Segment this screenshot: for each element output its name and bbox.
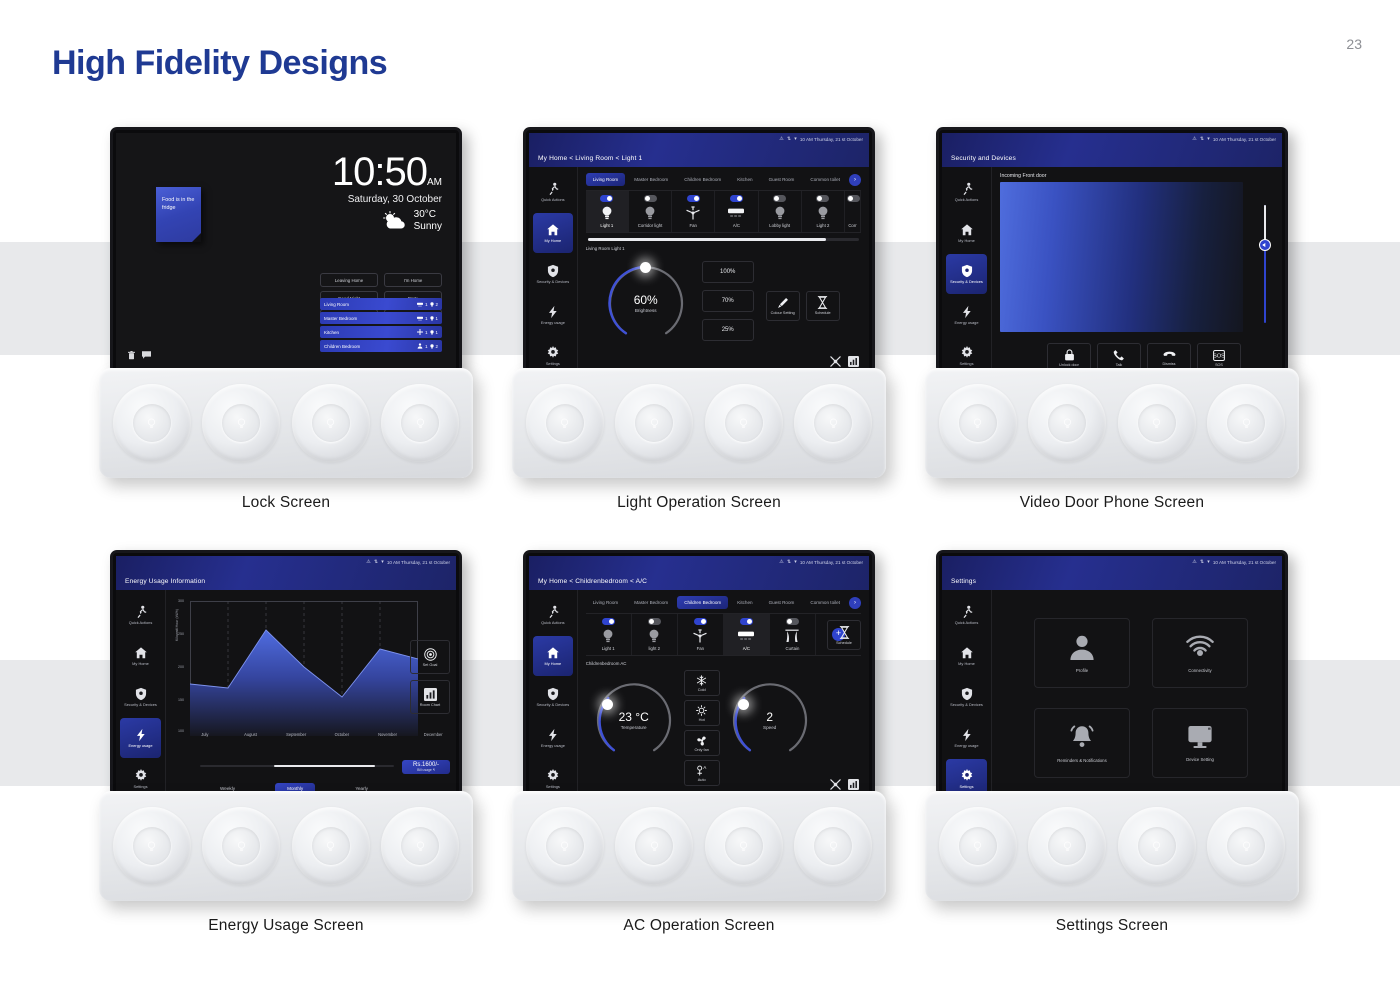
device-light-operation-screen: ⚠ ⇅ ▾ 10 AM Thursday, 21 st October My H… bbox=[512, 127, 886, 512]
bulb-icon bbox=[828, 841, 839, 852]
status-datetime: 10 AM Thursday, 21 st October bbox=[1213, 137, 1276, 142]
sidebar: Quick Actions My Home Security & Devices bbox=[942, 167, 992, 368]
shield-icon bbox=[960, 264, 974, 278]
colour-setting-button[interactable]: Colour Setting bbox=[766, 291, 800, 321]
chart-plot bbox=[190, 601, 418, 736]
device-screen: ⚠ ⇅ ▾ 10 AM Thursday, 21 st October My H… bbox=[529, 133, 869, 368]
room-tab-guest-room[interactable]: Guest Room bbox=[762, 596, 802, 609]
chart-y-tick: 200 bbox=[178, 665, 184, 669]
physical-button[interactable] bbox=[113, 807, 191, 885]
physical-button-inner bbox=[222, 827, 260, 865]
device-toggle[interactable] bbox=[847, 195, 860, 202]
bulb-icon bbox=[146, 841, 157, 852]
physical-button[interactable] bbox=[526, 807, 604, 885]
dial-value: 2 bbox=[766, 710, 773, 724]
sidebar-item-label: Settings bbox=[959, 362, 973, 366]
bill-badge[interactable]: Rs.1600/- Bill usage ₹ bbox=[402, 760, 450, 774]
physical-button-inner bbox=[312, 404, 350, 442]
chart-y-tick: 250 bbox=[178, 632, 184, 636]
sticky-note[interactable]: Food is in the fridge bbox=[156, 187, 201, 242]
sidebar-item-label: Energy usage bbox=[541, 321, 565, 325]
device-tile-curtain[interactable]: Curtain bbox=[770, 614, 816, 655]
bulb-icon bbox=[634, 628, 675, 644]
sidebar-item-energy-usage[interactable]: Energy usage bbox=[533, 718, 573, 758]
device-tiles: Light 1 Corridor light bbox=[586, 190, 861, 233]
sidebar-item-my-home[interactable]: My Home bbox=[533, 636, 573, 676]
preset-100[interactable]: 100% bbox=[702, 261, 754, 283]
physical-button[interactable] bbox=[1207, 807, 1285, 885]
ac-icon bbox=[417, 302, 423, 307]
tutorial-button[interactable]: Tutorial bbox=[829, 356, 841, 368]
screen-caption: Settings Screen bbox=[925, 917, 1299, 935]
bulb-icon bbox=[649, 841, 660, 852]
schedule-button[interactable]: Schedule bbox=[827, 620, 861, 650]
sidebar-item-quick-actions[interactable]: Quick Actions bbox=[946, 172, 987, 212]
sidebar-item-energy-usage[interactable]: Energy usage bbox=[533, 295, 573, 335]
dial-value-group: 60% Brightness bbox=[604, 261, 688, 345]
curtain-icon bbox=[772, 628, 813, 644]
bar-chart-icon bbox=[424, 688, 437, 701]
breadcrumb: Settings bbox=[951, 578, 976, 585]
device-tile-light-2[interactable]: light 2 bbox=[632, 614, 678, 655]
device-tile-label: Light 1 bbox=[588, 646, 629, 651]
scene-im-home[interactable]: I'm Home bbox=[384, 273, 442, 287]
bulb-icon bbox=[738, 418, 749, 429]
sidebar-item-security-devices[interactable]: Security & Devices bbox=[946, 677, 987, 717]
bulb-icon bbox=[1241, 841, 1252, 852]
ac-operation-ui: ⚠ ⇅ ▾ 10 AM Thursday, 21 st October My H… bbox=[529, 556, 869, 791]
tutorial-icon bbox=[830, 779, 841, 790]
device-toggle[interactable] bbox=[816, 195, 829, 202]
shield-icon bbox=[960, 687, 974, 701]
period-yearly[interactable]: Yearly bbox=[343, 783, 380, 791]
mode-auto-button[interactable]: A Auto bbox=[684, 760, 720, 786]
bulb-icon bbox=[1151, 418, 1162, 429]
talk-button[interactable]: Talk bbox=[1097, 343, 1141, 368]
status-datetime: 10 AM Thursday, 21 st October bbox=[387, 560, 450, 565]
physical-button[interactable] bbox=[705, 807, 783, 885]
chevron-right-icon[interactable]: › bbox=[849, 597, 861, 609]
physical-button[interactable] bbox=[113, 384, 191, 462]
bolt-icon bbox=[960, 728, 974, 742]
physical-button[interactable] bbox=[381, 807, 459, 885]
room-tab-kitchen[interactable]: Kitchen bbox=[730, 596, 759, 609]
bulb-icon bbox=[1062, 418, 1073, 429]
device-tile-light-2[interactable]: Light 2 bbox=[802, 191, 845, 232]
bluetooth-icon: ⇅ bbox=[787, 559, 791, 565]
brush-icon bbox=[777, 297, 789, 309]
physical-button[interactable] bbox=[381, 384, 459, 462]
device-tile-label: light 2 bbox=[634, 646, 675, 651]
device-tile-fan[interactable]: Fan bbox=[678, 614, 724, 655]
physical-button-inner bbox=[1048, 827, 1086, 865]
physical-button-inner bbox=[222, 404, 260, 442]
physical-button[interactable] bbox=[202, 807, 280, 885]
sidebar-item-quick-actions[interactable]: Quick Actions bbox=[120, 595, 161, 635]
fan-icon bbox=[417, 329, 423, 335]
dismiss-button[interactable]: Dismiss bbox=[1147, 343, 1191, 368]
device-toggle[interactable] bbox=[694, 618, 707, 625]
call-actions: Unlock door Talk Dismiss bbox=[1047, 343, 1241, 368]
bulb-icon bbox=[631, 205, 669, 221]
bulb-icon bbox=[972, 841, 983, 852]
speed-dial[interactable]: 2 Speed bbox=[728, 678, 812, 762]
page-number: 23 bbox=[1346, 36, 1362, 52]
sidebar-item-energy-usage[interactable]: Energy usage bbox=[120, 718, 161, 758]
sidebar-item-quick-actions[interactable]: Quick Actions bbox=[533, 172, 573, 212]
bluetooth-icon: ⇅ bbox=[374, 559, 378, 565]
physical-button[interactable] bbox=[1028, 384, 1106, 462]
sidebar-item-label: Settings bbox=[959, 785, 973, 789]
physical-button-inner bbox=[1227, 827, 1265, 865]
mode-cold-button[interactable]: Cold bbox=[684, 670, 720, 696]
status-indicators: ⚠ ⇅ ▾ 10 AM Thursday, 21 st October bbox=[779, 136, 863, 142]
sidebar-item-label: Settings bbox=[133, 785, 147, 789]
corner-tools: Tutorial Statistics bbox=[829, 356, 861, 368]
gear-icon bbox=[134, 769, 148, 783]
device-settings-screen: ⚠ ⇅ ▾ 10 AM Thursday, 21 st October Sett… bbox=[925, 550, 1299, 935]
sun-cloud-icon bbox=[382, 211, 408, 231]
status-datetime: 10 AM Thursday, 21 st October bbox=[800, 560, 863, 565]
scene-leaving-home[interactable]: Leaving Home bbox=[320, 273, 378, 287]
room-row[interactable]: Children Bedroom 1 2 bbox=[320, 340, 442, 352]
room-tab-living-room[interactable]: Living Room bbox=[586, 596, 626, 609]
device-tile-light-1[interactable]: Light 1 bbox=[586, 614, 632, 655]
running-person-icon bbox=[960, 182, 974, 196]
sidebar-item-quick-actions[interactable]: Quick Actions bbox=[946, 595, 987, 635]
device-toggle[interactable] bbox=[740, 618, 753, 625]
hourglass-icon bbox=[817, 296, 828, 309]
video-door-phone-ui: ⚠ ⇅ ▾ 10 AM Thursday, 21 st October Secu… bbox=[942, 133, 1282, 368]
lock-bottom-icons bbox=[128, 351, 151, 360]
device-screen: ⚠ ⇅ ▾ 10 AM Thursday, 21 st October Ener… bbox=[116, 556, 456, 791]
device-screen: ⚠ ⇅ ▾ 10 AM Thursday, 21 st October Secu… bbox=[942, 133, 1282, 368]
breadcrumb: My Home < Living Room < Light 1 bbox=[538, 155, 642, 162]
camera-feed[interactable] bbox=[1000, 182, 1243, 332]
physical-button[interactable] bbox=[705, 384, 783, 462]
wifi-icon: ▾ bbox=[1207, 136, 1210, 142]
physical-button[interactable] bbox=[1118, 384, 1196, 462]
sidebar-item-label: My Home bbox=[545, 662, 562, 666]
hourglass-icon bbox=[839, 626, 850, 639]
settings-card-profile[interactable]: Profile bbox=[1034, 618, 1130, 688]
set-goal-button[interactable]: Set Goal bbox=[410, 640, 450, 674]
device-toggle[interactable] bbox=[773, 195, 786, 202]
sidebar-item-label: Settings bbox=[546, 785, 560, 789]
chart-y-tick: 300 bbox=[178, 599, 184, 603]
dial-label: Speed bbox=[763, 725, 776, 730]
device-tile-lobby-light[interactable]: Lobby light bbox=[759, 191, 802, 232]
device-tile-label: Curtain bbox=[772, 646, 813, 651]
gear-icon bbox=[960, 346, 974, 360]
monitor-icon bbox=[1186, 724, 1214, 750]
device-base bbox=[99, 368, 473, 478]
status-datetime: 10 AM Thursday, 21 st October bbox=[1213, 560, 1276, 565]
physical-button[interactable] bbox=[615, 384, 693, 462]
sidebar-item-settings[interactable]: Settings bbox=[533, 336, 573, 368]
detail-label: Living Room Light 1 bbox=[586, 246, 861, 251]
sidebar-item-label: My Home bbox=[958, 662, 975, 666]
physical-button[interactable] bbox=[526, 384, 604, 462]
device-toggle[interactable] bbox=[648, 618, 661, 625]
device-video-door-phone-screen: ⚠ ⇅ ▾ 10 AM Thursday, 21 st October Secu… bbox=[925, 127, 1299, 512]
gear-icon bbox=[546, 346, 560, 360]
sidebar-item-energy-usage[interactable]: Energy usage bbox=[946, 295, 987, 335]
sidebar-item-security-devices[interactable]: Security & Devices bbox=[120, 677, 161, 717]
chart-x-tick: July bbox=[182, 732, 228, 737]
device-tiles: Light 1 light 2 Fan bbox=[586, 613, 861, 656]
preset-70[interactable]: 70% bbox=[702, 290, 754, 312]
status-indicators: ⚠ ⇅ ▾ 10 AM Thursday, 21 st October bbox=[1192, 559, 1276, 565]
home-icon bbox=[960, 646, 974, 660]
device-toggle[interactable] bbox=[644, 195, 657, 202]
period-monthly[interactable]: Monthly bbox=[275, 783, 315, 791]
sidebar-item-security-devices[interactable]: Security & Devices bbox=[946, 254, 987, 294]
statistics-icon bbox=[848, 779, 859, 790]
tiles-scrollbar[interactable] bbox=[588, 238, 859, 241]
bulb-icon bbox=[1241, 418, 1252, 429]
statistics-button[interactable]: Statistics bbox=[847, 356, 861, 368]
device-tile-light-1[interactable]: Light 1 bbox=[586, 191, 629, 232]
bulb-icon bbox=[236, 841, 247, 852]
sidebar-item-label: Energy usage bbox=[128, 744, 152, 748]
schedule-button[interactable]: Schedule bbox=[806, 291, 840, 321]
phone-icon bbox=[1113, 349, 1125, 361]
device-toggle[interactable] bbox=[687, 195, 700, 202]
bolt-icon bbox=[546, 305, 560, 319]
bulb-icon bbox=[588, 628, 629, 644]
bolt-icon bbox=[960, 305, 974, 319]
running-person-icon bbox=[134, 605, 148, 619]
dial-value: 23 °C bbox=[619, 710, 649, 724]
physical-button[interactable] bbox=[1207, 384, 1285, 462]
settings-card-label: Reminders & Notifications bbox=[1057, 758, 1106, 763]
device-base bbox=[512, 791, 886, 901]
dial-label: Brightness bbox=[635, 308, 657, 313]
sidebar-item-my-home[interactable]: My Home bbox=[946, 636, 987, 676]
status-datetime: 10 AM Thursday, 21 st October bbox=[800, 137, 863, 142]
corner-tools: Tutorial Statistics bbox=[829, 779, 861, 791]
room-tab-master-bedroom[interactable]: Master Bedroom bbox=[627, 173, 675, 186]
physical-button[interactable] bbox=[939, 384, 1017, 462]
physical-button-inner bbox=[725, 827, 763, 865]
weather-condition: Sunny bbox=[414, 221, 442, 232]
device-base bbox=[925, 368, 1299, 478]
lock-screen-ui: Food is in the fridge 10:50AM Saturday, … bbox=[116, 133, 456, 368]
unlock-door-label: Unlock door bbox=[1059, 363, 1079, 367]
timeline-slider[interactable] bbox=[200, 765, 394, 768]
room-name: Kitchen bbox=[324, 330, 339, 335]
snowflake-icon bbox=[696, 675, 707, 686]
sos-button[interactable]: SOS SOS bbox=[1197, 343, 1241, 368]
device-tile-ac[interactable]: A/C bbox=[724, 614, 770, 655]
weather-text: 30°C Sunny bbox=[414, 209, 442, 232]
device-tile-fan[interactable]: Fan bbox=[672, 191, 715, 232]
content-area: Living Room Master Bedroom Children Bedr… bbox=[578, 590, 869, 791]
room-row[interactable]: Living Room 1 2 bbox=[320, 298, 442, 310]
physical-button[interactable] bbox=[292, 384, 370, 462]
sidebar-item-settings[interactable]: Settings bbox=[533, 759, 573, 791]
room-tab-children-bedroom[interactable]: Children Bedroom bbox=[677, 173, 728, 186]
designs-grid: Food is in the fridge 10:50AM Saturday, … bbox=[0, 0, 1400, 990]
chevron-right-icon[interactable]: › bbox=[849, 174, 861, 186]
settings-card-reminders-notifications[interactable]: Reminders & Notifications bbox=[1034, 708, 1130, 778]
physical-button-inner bbox=[546, 827, 584, 865]
device-tile-label: Fan bbox=[680, 646, 721, 651]
gear-icon bbox=[960, 769, 974, 783]
device-toggle[interactable] bbox=[730, 195, 743, 202]
device-screen: Food is in the fridge 10:50AM Saturday, … bbox=[116, 133, 456, 368]
bulb-icon bbox=[559, 841, 570, 852]
home-icon bbox=[134, 646, 148, 660]
physical-button[interactable] bbox=[615, 807, 693, 885]
sidebar-item-label: Quick Actions bbox=[129, 621, 153, 625]
bulb-icon bbox=[325, 841, 336, 852]
status-indicators: ⚠ ⇅ ▾ 10 AM Thursday, 21 st October bbox=[1192, 136, 1276, 142]
physical-button[interactable] bbox=[1028, 807, 1106, 885]
screen-caption: Lock Screen bbox=[99, 494, 473, 512]
sidebar-item-security-devices[interactable]: Security & Devices bbox=[533, 677, 573, 717]
bulb-icon bbox=[649, 418, 660, 429]
sidebar-item-label: My Home bbox=[545, 239, 562, 243]
message-icon[interactable] bbox=[142, 351, 151, 360]
breadcrumb: My Home < Childrenbedroom < A/C bbox=[538, 578, 647, 585]
volume-thumb[interactable] bbox=[1259, 239, 1271, 251]
sidebar-item-quick-actions[interactable]: Quick Actions bbox=[533, 595, 573, 635]
preset-25[interactable]: 25% bbox=[702, 319, 754, 341]
physical-button[interactable] bbox=[202, 384, 280, 462]
physical-button-inner bbox=[546, 404, 584, 442]
device-tile-label: Light 2 bbox=[804, 223, 842, 228]
settings-card-connectivity[interactable]: Connectivity bbox=[1152, 618, 1248, 688]
tutorial-button[interactable]: Tutorial bbox=[829, 779, 841, 791]
device-screen: ⚠ ⇅ ▾ 10 AM Thursday, 21 st October My H… bbox=[529, 556, 869, 791]
sidebar-item-security-devices[interactable]: Security & Devices bbox=[533, 254, 573, 294]
breadcrumb: Security and Devices bbox=[951, 155, 1016, 162]
statistics-button[interactable]: Statistics bbox=[847, 779, 861, 791]
physical-button-inner bbox=[814, 827, 852, 865]
target-icon bbox=[424, 648, 437, 661]
device-tile-label: Lobby light bbox=[761, 223, 799, 228]
unlock-door-button[interactable]: Unlock door bbox=[1047, 343, 1091, 368]
settings-card-device-setting[interactable]: Device Setting bbox=[1152, 708, 1248, 778]
clock-block: 10:50AM Saturday, 30 October bbox=[332, 153, 442, 232]
breadcrumb: Energy Usage Information bbox=[125, 578, 205, 585]
room-chart-label: Room Chart bbox=[420, 703, 440, 707]
trash-icon[interactable] bbox=[128, 351, 135, 360]
sidebar-item-settings[interactable]: Settings bbox=[120, 759, 161, 791]
room-tab-common-toilet[interactable]: Common toilet bbox=[803, 596, 847, 609]
device-base bbox=[99, 791, 473, 901]
energy-area-chart: Kilowatt Hour (kWh) 300 250 200 150 100 bbox=[190, 601, 418, 736]
room-tab-guest-room[interactable]: Guest Room bbox=[762, 173, 802, 186]
room-tab-master-bedroom[interactable]: Master Bedroom bbox=[627, 596, 675, 609]
bulb-icon bbox=[972, 418, 983, 429]
shield-icon bbox=[546, 687, 560, 701]
physical-button-inner bbox=[1138, 827, 1176, 865]
brightness-dial[interactable]: 60% Brightness bbox=[604, 261, 688, 345]
physical-button[interactable] bbox=[1118, 807, 1196, 885]
physical-button-inner bbox=[959, 404, 997, 442]
device-base bbox=[925, 791, 1299, 901]
temperature-dial[interactable]: 23 °C Temperature bbox=[592, 678, 676, 762]
room-tab-common-toilet[interactable]: Common toilet bbox=[803, 173, 847, 186]
sidebar-item-settings[interactable]: Settings bbox=[946, 336, 987, 368]
wifi-icon: ▾ bbox=[794, 559, 797, 565]
physical-button[interactable] bbox=[794, 807, 872, 885]
running-person-icon bbox=[546, 605, 560, 619]
page-title: High Fidelity Designs bbox=[52, 44, 387, 83]
device-toggle[interactable] bbox=[786, 618, 799, 625]
room-tab-living-room[interactable]: Living Room bbox=[586, 173, 626, 186]
sidebar-item-label: Quick Actions bbox=[955, 621, 979, 625]
room-status-list: Living Room 1 2 Master Bedroom bbox=[320, 298, 442, 352]
room-chart-button[interactable]: Room Chart bbox=[410, 680, 450, 714]
device-toggle[interactable] bbox=[600, 195, 613, 202]
settings-ui: ⚠ ⇅ ▾ 10 AM Thursday, 21 st October Sett… bbox=[942, 556, 1282, 791]
physical-button-inner bbox=[1048, 404, 1086, 442]
sidebar-item-label: Security & Devices bbox=[537, 703, 570, 707]
mode-hot-button[interactable]: Hot bbox=[684, 700, 720, 726]
device-tile-label: Fan bbox=[674, 223, 712, 228]
room-row[interactable]: Master Bedroom 1 1 bbox=[320, 312, 442, 324]
clock-time: 10:50AM bbox=[332, 153, 442, 191]
room-tab-kitchen[interactable]: Kitchen bbox=[730, 173, 759, 186]
physical-button[interactable] bbox=[939, 807, 1017, 885]
device-screen: ⚠ ⇅ ▾ 10 AM Thursday, 21 st October Sett… bbox=[942, 556, 1282, 791]
chart-x-tick: November bbox=[365, 732, 411, 737]
sidebar-item-settings[interactable]: Settings bbox=[946, 759, 987, 791]
sidebar: Quick Actions My Home Security & Devices bbox=[942, 590, 992, 791]
top-bar: ⚠ ⇅ ▾ 10 AM Thursday, 21 st October Ener… bbox=[116, 556, 456, 590]
sidebar-item-my-home[interactable]: My Home bbox=[946, 213, 987, 253]
volume-slider[interactable] bbox=[1259, 205, 1271, 323]
bulb-icon bbox=[828, 418, 839, 429]
device-tile-label: Light 1 bbox=[588, 223, 626, 228]
clock-date: Saturday, 30 October bbox=[332, 194, 442, 205]
period-weekly[interactable]: Weekly bbox=[208, 783, 247, 791]
device-bezel: ⚠ ⇅ ▾ 10 AM Thursday, 21 st October Secu… bbox=[936, 127, 1288, 374]
sidebar-item-label: Quick Actions bbox=[955, 198, 979, 202]
mode-only-fan-label: Only fan bbox=[694, 747, 709, 752]
physical-button[interactable] bbox=[794, 384, 872, 462]
physical-button[interactable] bbox=[292, 807, 370, 885]
bolt-icon bbox=[134, 728, 148, 742]
sidebar-item-energy-usage[interactable]: Energy usage bbox=[946, 718, 987, 758]
device-tile-ac[interactable]: A/C bbox=[715, 191, 758, 232]
sidebar-item-label: Energy usage bbox=[954, 744, 978, 748]
colour-setting-label: Colour Setting bbox=[771, 311, 795, 315]
home-icon bbox=[546, 223, 560, 237]
device-toggle[interactable] bbox=[602, 618, 615, 625]
home-icon bbox=[546, 646, 560, 660]
sidebar-item-label: Energy usage bbox=[954, 321, 978, 325]
device-tile-corridor-light[interactable]: Corridor light bbox=[629, 191, 672, 232]
bulb-icon bbox=[415, 841, 426, 852]
physical-button-inner bbox=[401, 827, 439, 865]
room-row[interactable]: Kitchen 1 1 bbox=[320, 326, 442, 338]
body-row: Quick Actions My Home Security & Devices bbox=[529, 167, 869, 368]
room-tab-children-bedroom[interactable]: Children Bedroom bbox=[677, 596, 728, 609]
room-device-counts: 1 2 bbox=[417, 302, 438, 307]
device-tile-corr[interactable]: Corr bbox=[845, 191, 861, 232]
sidebar-item-my-home[interactable]: My Home bbox=[533, 213, 573, 253]
svg-text:SOS: SOS bbox=[1213, 353, 1225, 359]
chart-x-tick: September bbox=[273, 732, 319, 737]
physical-button-inner bbox=[635, 827, 673, 865]
mode-only-fan-button[interactable]: Only fan bbox=[684, 730, 720, 756]
sidebar-item-my-home[interactable]: My Home bbox=[120, 636, 161, 676]
